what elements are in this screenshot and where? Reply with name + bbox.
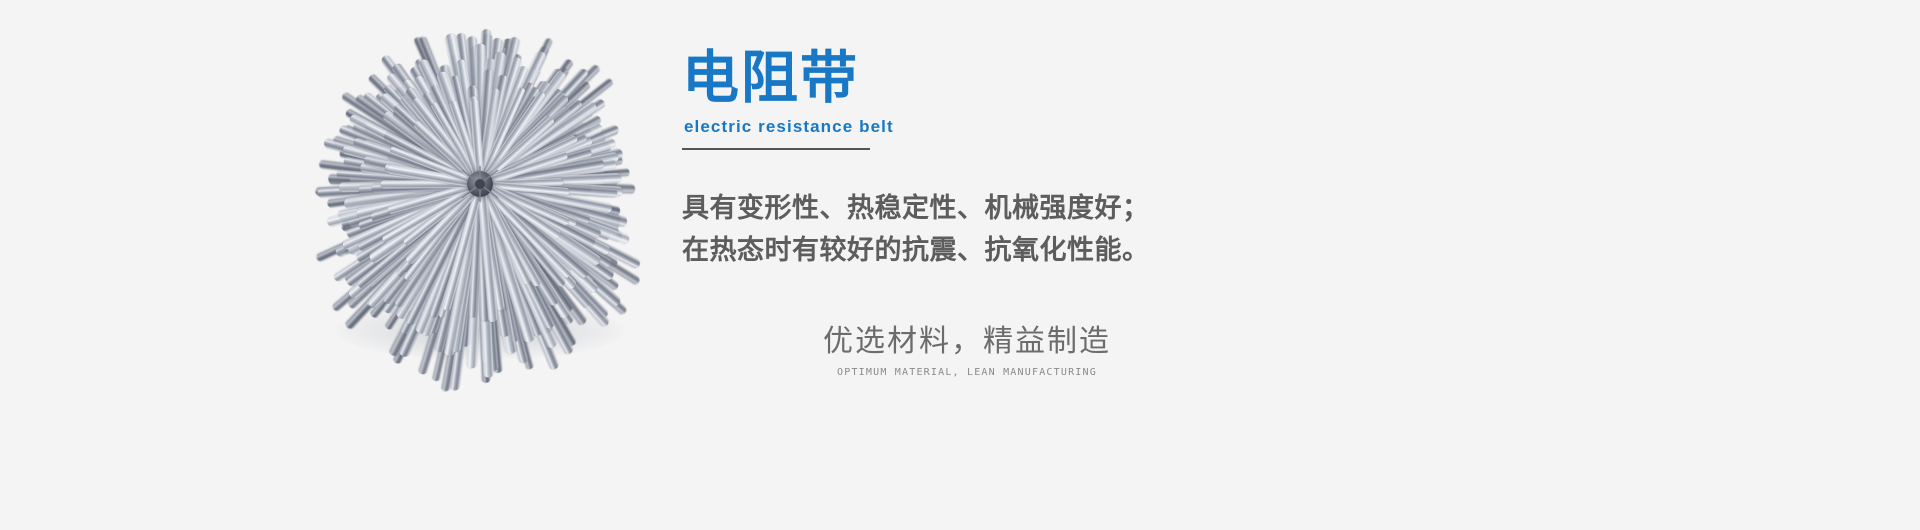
wire-knot-icon — [458, 164, 502, 204]
page-title: 电阻带 — [682, 48, 859, 108]
title-divider — [682, 148, 870, 150]
product-description: 具有变形性、热稳定性、机械强度好； 在热态时有较好的抗震、抗氧化性能。 — [682, 188, 1322, 272]
description-line-2: 在热态时有较好的抗震、抗氧化性能。 — [682, 230, 1322, 272]
description-line-1: 具有变形性、热稳定性、机械强度好； — [682, 188, 1322, 230]
tagline-en: OPTIMUM MATERIAL, LEAN MANUFACTURING — [777, 366, 1157, 380]
resistance-belt-strips — [300, 45, 660, 375]
product-image — [300, 45, 660, 375]
product-banner: 电阻带 electric resistance belt 具有变形性、热稳定性、… — [0, 0, 1920, 530]
tagline-block: 优选材料，精益制造 OPTIMUM MATERIAL, LEAN MANUFAC… — [777, 322, 1157, 380]
page-subtitle: electric resistance belt — [684, 116, 894, 138]
banner-content: 电阻带 electric resistance belt 具有变形性、热稳定性、… — [682, 0, 1682, 530]
tagline-zh: 优选材料，精益制造 — [777, 322, 1157, 362]
